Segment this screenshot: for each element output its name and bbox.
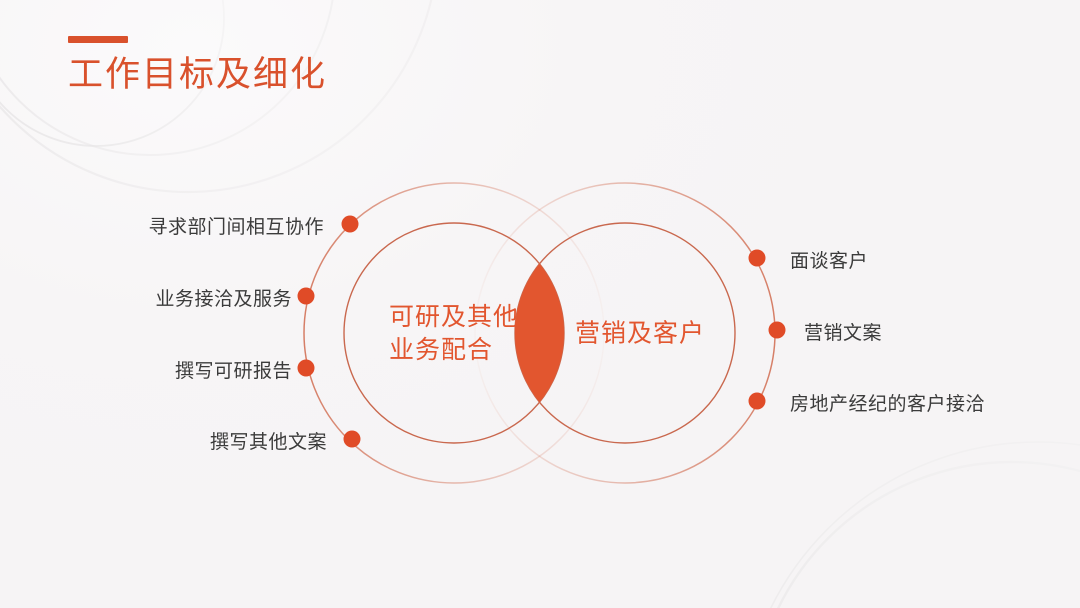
decor-circle-bottom-right (752, 462, 1080, 608)
connector-dot-left-2 (298, 288, 315, 305)
venn-left-title: 可研及其他 业务配合 (389, 300, 519, 366)
decor-circle-top-left-large (0, 0, 438, 192)
left-item-label-2: 业务接洽及服务 (155, 287, 292, 311)
connector-dot-right-3 (749, 393, 766, 410)
slide-canvas: 工作目标及细化 (0, 0, 1080, 608)
decor-circle-bottom-right-outer (740, 442, 1080, 608)
connector-dot-left-4 (344, 431, 361, 448)
left-item-label-4: 撰写其他文案 (210, 430, 327, 454)
right-item-label-1: 面谈客户 (790, 249, 868, 273)
left-item-label-1: 寻求部门间相互协作 (148, 215, 324, 239)
page-title: 工作目标及细化 (68, 56, 327, 94)
title-accent-bar (68, 36, 128, 43)
connector-dot-left-3 (298, 360, 315, 377)
connector-dot-left-1 (342, 216, 359, 233)
right-item-label-2: 营销文案 (804, 321, 882, 345)
connector-dot-right-2 (769, 322, 786, 339)
left-item-label-3: 撰写可研报告 (175, 359, 292, 383)
venn-right-title: 营销及客户 (575, 317, 705, 350)
connector-dot-right-1 (749, 250, 766, 267)
title-block: 工作目标及细化 (68, 36, 327, 94)
right-item-label-3: 房地产经纪的客户接洽 (790, 392, 985, 416)
